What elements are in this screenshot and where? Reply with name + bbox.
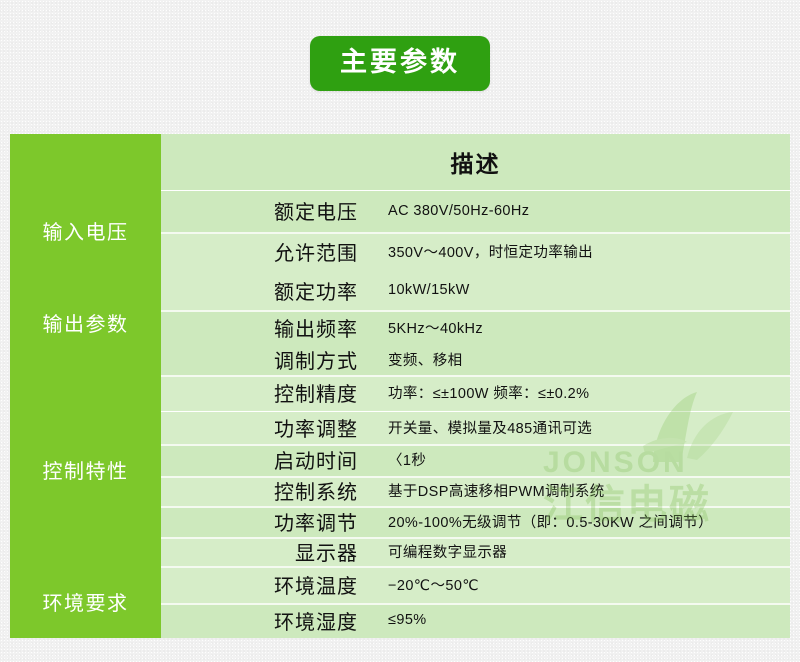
title-banner: 主要参数 [0, 36, 800, 91]
row-name: 调制方式 [161, 345, 376, 374]
row-name: 允许范围 [161, 237, 376, 266]
category-cell-output-params: 输出参数 [10, 271, 161, 374]
table-row: 环境湿度 ≤95% [161, 603, 790, 638]
table-row: 控制系统 基于DSP高速移相PWM调制系统 [161, 476, 790, 507]
row-desc: 10kW/15kW [376, 282, 790, 298]
table-row: 控制精度 功率：≤±100W 频率：≤±0.2% [161, 375, 790, 411]
category-column: 项目 输入电压 输出参数 控制特性 环境要求 [10, 134, 161, 638]
row-desc: 〈1秒 [376, 449, 790, 470]
table-row: 额定电压 AC 380V/50Hz-60Hz [161, 190, 790, 233]
row-desc: 功率：≤±100W 频率：≤±0.2% [376, 382, 790, 403]
row-name: 启动时间 [161, 445, 376, 474]
row-desc: 开关量、模拟量及485通讯可选 [376, 417, 790, 438]
row-name: 额定功率 [161, 276, 376, 305]
row-name: 环境温度 [161, 570, 376, 599]
row-name: 输出频率 [161, 313, 376, 342]
category-cell-input-voltage: 输入电压 [10, 189, 161, 270]
row-desc: 变频、移相 [376, 349, 790, 370]
row-desc: 350V～400V，时恒定功率输出 [376, 241, 790, 262]
row-name: 控制精度 [161, 378, 376, 407]
row-name: 控制系统 [161, 476, 376, 505]
table-row: 允许范围 350V～400V，时恒定功率输出 [161, 232, 790, 271]
category-cell-control-characteristics: 控制特性 [10, 374, 161, 564]
row-desc: AC 380V/50Hz-60Hz [376, 203, 790, 219]
table-row: 调制方式 变频、移相 [161, 344, 790, 375]
row-desc: ≤95% [376, 612, 790, 628]
table-row: 输出频率 5KHz～40kHz [161, 310, 790, 344]
row-name: 功率调整 [161, 413, 376, 442]
row-desc: −20℃～50℃ [376, 574, 790, 595]
table-row: 功率调节 20%-100%无级调节（即：0.5-30KW 之间调节） [161, 506, 790, 537]
row-name: 功率调节 [161, 507, 376, 536]
category-header-item: 项目 [10, 134, 161, 189]
table-row: 功率调整 开关量、模拟量及485通讯可选 [161, 411, 790, 444]
table-row: 额定功率 10kW/15kW [161, 271, 790, 310]
rows-column: 描述 额定电压 AC 380V/50Hz-60Hz 允许范围 350V～400V… [161, 134, 790, 638]
table-header-row: 描述 [161, 134, 790, 190]
row-desc: 5KHz～40kHz [376, 317, 790, 338]
row-desc: 20%-100%无级调节（即：0.5-30KW 之间调节） [376, 511, 790, 532]
row-name: 环境湿度 [161, 606, 376, 635]
page-title: 主要参数 [310, 36, 490, 91]
table-row: 环境温度 −20℃～50℃ [161, 566, 790, 603]
row-name: 显示器 [161, 537, 376, 566]
category-cell-environment: 环境要求 [10, 564, 161, 638]
row-desc: 可编程数字显示器 [376, 541, 790, 562]
header-description: 描述 [451, 145, 501, 179]
row-desc: 基于DSP高速移相PWM调制系统 [376, 480, 790, 501]
specifications-table: 项目 输入电压 输出参数 控制特性 环境要求 描述 额定电压 AC 380V/5… [10, 134, 790, 638]
table-row: 显示器 可编程数字显示器 [161, 537, 790, 566]
row-name: 额定电压 [161, 196, 376, 225]
table-row: 启动时间 〈1秒 [161, 444, 790, 475]
